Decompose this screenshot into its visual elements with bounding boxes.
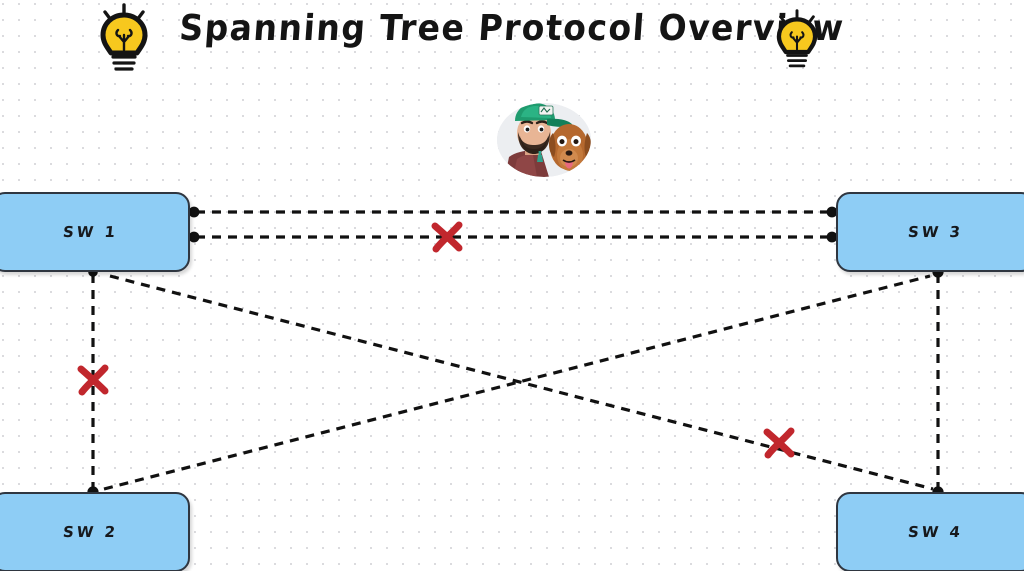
switch-node-sw3[interactable]: SW 3: [836, 192, 1024, 272]
switch-label: SW 4: [907, 523, 964, 541]
red-x-icon-top-link: [429, 219, 465, 255]
switch-node-sw1[interactable]: SW 1: [0, 192, 190, 272]
red-x-icon-sw1-sw2-link: [75, 362, 111, 398]
switch-label: SW 1: [62, 223, 119, 241]
switch-label: SW 3: [907, 223, 964, 241]
switch-node-sw2[interactable]: SW 2: [0, 492, 190, 571]
link-endpoints: [87, 207, 943, 498]
link-layer: [0, 0, 1024, 571]
red-x-icon-sw1-sw4-link: [761, 425, 797, 461]
switch-node-sw4[interactable]: SW 4: [836, 492, 1024, 571]
diagram-canvas: Spanning Tree Protocol Overview: [0, 0, 1024, 571]
switch-label: SW 2: [62, 523, 119, 541]
